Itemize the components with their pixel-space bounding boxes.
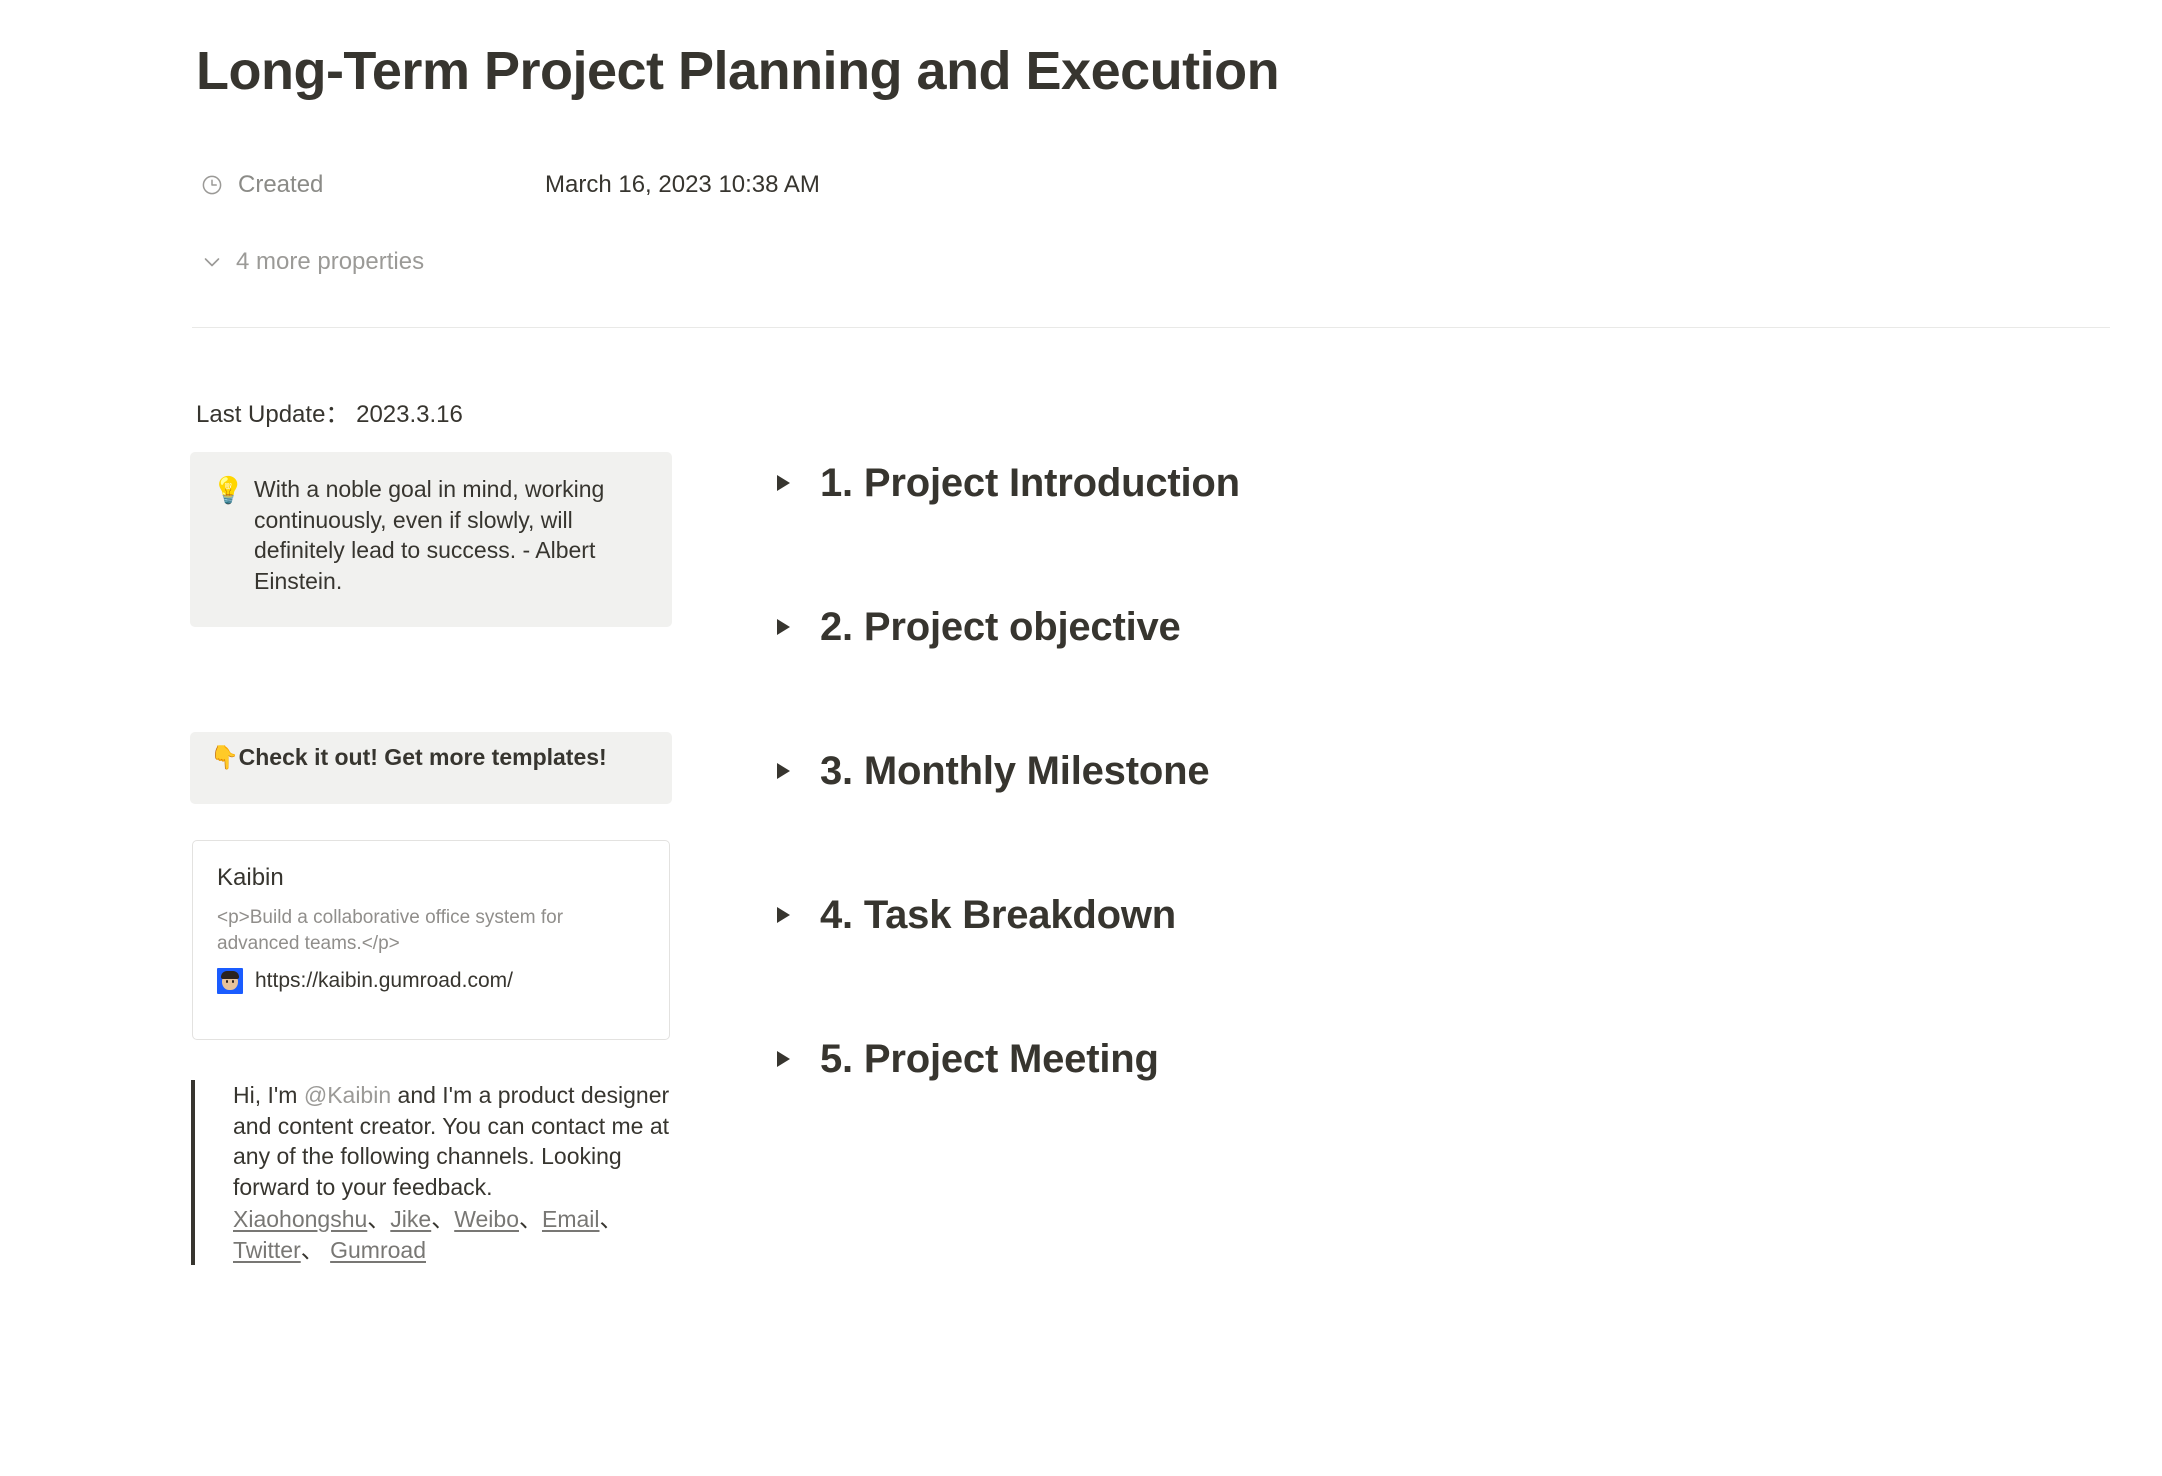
link-xiaohongshu[interactable]: Xiaohongshu [233, 1206, 367, 1232]
link-email[interactable]: Email [542, 1206, 600, 1232]
header-divider [192, 327, 2110, 328]
chevron-down-icon [200, 250, 224, 274]
triangle-right-icon[interactable] [770, 470, 796, 496]
last-update-value: 2023.3.16 [356, 401, 463, 428]
triangle-right-icon[interactable] [770, 1046, 796, 1072]
link-separator: 、 [301, 1237, 324, 1263]
link-separator: 、 [367, 1206, 390, 1232]
bookmark-card[interactable]: Kaibin <p>Build a collaborative office s… [192, 840, 670, 1040]
bookmark-title: Kaibin [217, 863, 645, 893]
toggle-heading-label: 1. Project Introduction [820, 457, 1240, 509]
toggle-heading-2[interactable]: 2. Project objective [770, 596, 1870, 658]
toggle-heading-1[interactable]: 1. Project Introduction [770, 452, 1870, 514]
triangle-right-icon[interactable] [770, 758, 796, 784]
triangle-right-icon[interactable] [770, 614, 796, 640]
property-value-created[interactable]: March 16, 2023 10:38 AM [545, 168, 820, 202]
bookmark-description: <p>Build a collaborative office system f… [217, 905, 645, 957]
bookmark-url[interactable]: https://kaibin.gumroad.com/ [255, 967, 513, 995]
toggle-heading-label: 4. Task Breakdown [820, 889, 1176, 941]
link-jike[interactable]: Jike [390, 1206, 431, 1232]
toggle-heading-label: 2. Project objective [820, 601, 1181, 653]
toggle-heading-4[interactable]: 4. Task Breakdown [770, 884, 1870, 946]
property-row-created[interactable]: Created [200, 168, 323, 202]
link-gumroad[interactable]: Gumroad [330, 1237, 426, 1263]
toggle-heading-list: 1. Project Introduction 2. Project objec… [770, 452, 1870, 1172]
more-properties-label: 4 more properties [236, 247, 424, 277]
kaibin-avatar-favicon [217, 968, 243, 994]
callout-promo-text: Check it out! Get more templates! [239, 744, 607, 770]
page-title[interactable]: Long-Term Project Planning and Execution [196, 38, 1279, 104]
link-separator: 、 [519, 1206, 542, 1232]
clock-icon [200, 173, 224, 197]
lightbulb-emoji: 💡 [212, 474, 246, 506]
toggle-heading-3[interactable]: 3. Monthly Milestone [770, 740, 1870, 802]
bio-intro-before: Hi, I'm [233, 1082, 304, 1108]
toggle-heading-label: 5. Project Meeting [820, 1033, 1159, 1085]
property-label-created: Created [238, 170, 323, 200]
last-update-line: Last Update： 2023.3.16 [196, 399, 463, 431]
callout-promo[interactable]: 👇Check it out! Get more templates! [190, 732, 672, 804]
down-pointing-finger-emoji: 👇 [210, 744, 239, 770]
link-separator: 、 [600, 1206, 623, 1232]
link-separator: 、 [431, 1206, 454, 1232]
triangle-right-icon[interactable] [770, 902, 796, 928]
bio-links: Xiaohongshu、Jike、Weibo、Email、Twitter、 Gu… [233, 1204, 671, 1265]
toggle-heading-5[interactable]: 5. Project Meeting [770, 1028, 1870, 1090]
callout-quote[interactable]: 💡 With a noble goal in mind, working con… [190, 452, 672, 627]
bookmark-link-row[interactable]: https://kaibin.gumroad.com/ [217, 967, 645, 995]
toggle-heading-label: 3. Monthly Milestone [820, 745, 1209, 797]
callout-promo-text-wrap: 👇Check it out! Get more templates! [210, 744, 607, 770]
last-update-label: Last Update： [196, 401, 349, 428]
bio-text: Hi, I'm @Kaibin and I'm a product design… [233, 1080, 671, 1202]
more-properties-toggle[interactable]: 4 more properties [200, 245, 424, 279]
link-weibo[interactable]: Weibo [454, 1206, 519, 1232]
notion-page: Long-Term Project Planning and Execution… [0, 0, 2162, 1476]
mention-kaibin[interactable]: @Kaibin [304, 1082, 391, 1108]
bio-blockquote: Hi, I'm @Kaibin and I'm a product design… [191, 1080, 671, 1265]
link-twitter[interactable]: Twitter [233, 1237, 301, 1263]
callout-quote-text: With a noble goal in mind, working conti… [254, 474, 646, 596]
